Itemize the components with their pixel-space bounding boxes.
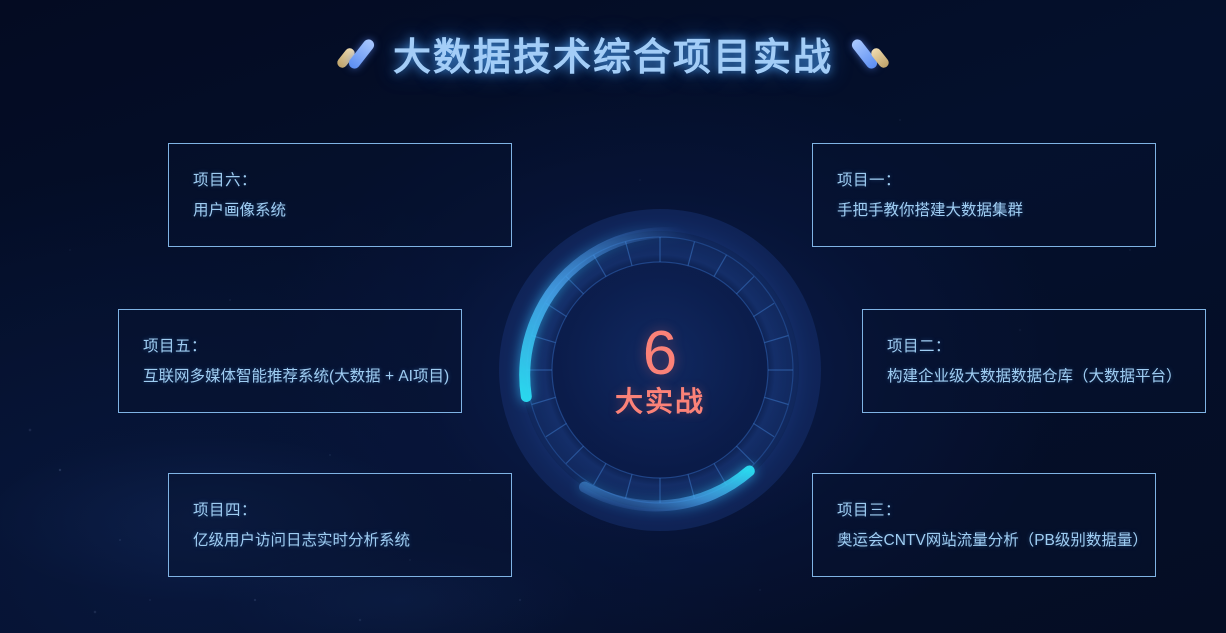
- project-card-1[interactable]: 项目一： 手把手教你搭建大数据集群: [812, 143, 1156, 247]
- project-card-desc: 用户画像系统: [193, 196, 487, 226]
- project-card-title: 项目一：: [837, 166, 1131, 196]
- dial-inner-disc: [552, 262, 768, 478]
- title-decoration-left-icon: [341, 37, 367, 71]
- project-card-desc: 奥运会CNTV网站流量分析（PB级别数据量）: [837, 526, 1131, 556]
- project-card-title: 项目五：: [143, 332, 437, 362]
- project-card-5[interactable]: 项目五： 互联网多媒体智能推荐系统(大数据 + AI项目): [118, 309, 462, 413]
- project-card-desc: 手把手教你搭建大数据集群: [837, 196, 1131, 226]
- project-card-title: 项目六：: [193, 166, 487, 196]
- project-card-desc: 互联网多媒体智能推荐系统(大数据 + AI项目): [143, 362, 437, 392]
- title-decoration-right-icon: [859, 37, 885, 71]
- project-card-desc: 亿级用户访问日志实时分析系统: [193, 526, 487, 556]
- project-card-4[interactable]: 项目四： 亿级用户访问日志实时分析系统: [168, 473, 512, 577]
- dial-graphic: [496, 206, 824, 534]
- project-card-3[interactable]: 项目三： 奥运会CNTV网站流量分析（PB级别数据量）: [812, 473, 1156, 577]
- slide-root: 大数据技术综合项目实战: [0, 0, 1226, 633]
- project-card-title: 项目二：: [887, 332, 1181, 362]
- center-dial: 6 大实战: [496, 206, 824, 534]
- project-card-title: 项目三：: [837, 496, 1131, 526]
- project-card-2[interactable]: 项目二： 构建企业级大数据数据仓库（大数据平台）: [862, 309, 1206, 413]
- slide-header: 大数据技术综合项目实战: [0, 26, 1226, 81]
- project-card-desc: 构建企业级大数据数据仓库（大数据平台）: [887, 362, 1181, 392]
- page-title: 大数据技术综合项目实战: [393, 26, 833, 81]
- project-card-title: 项目四：: [193, 496, 487, 526]
- project-card-6[interactable]: 项目六： 用户画像系统: [168, 143, 512, 247]
